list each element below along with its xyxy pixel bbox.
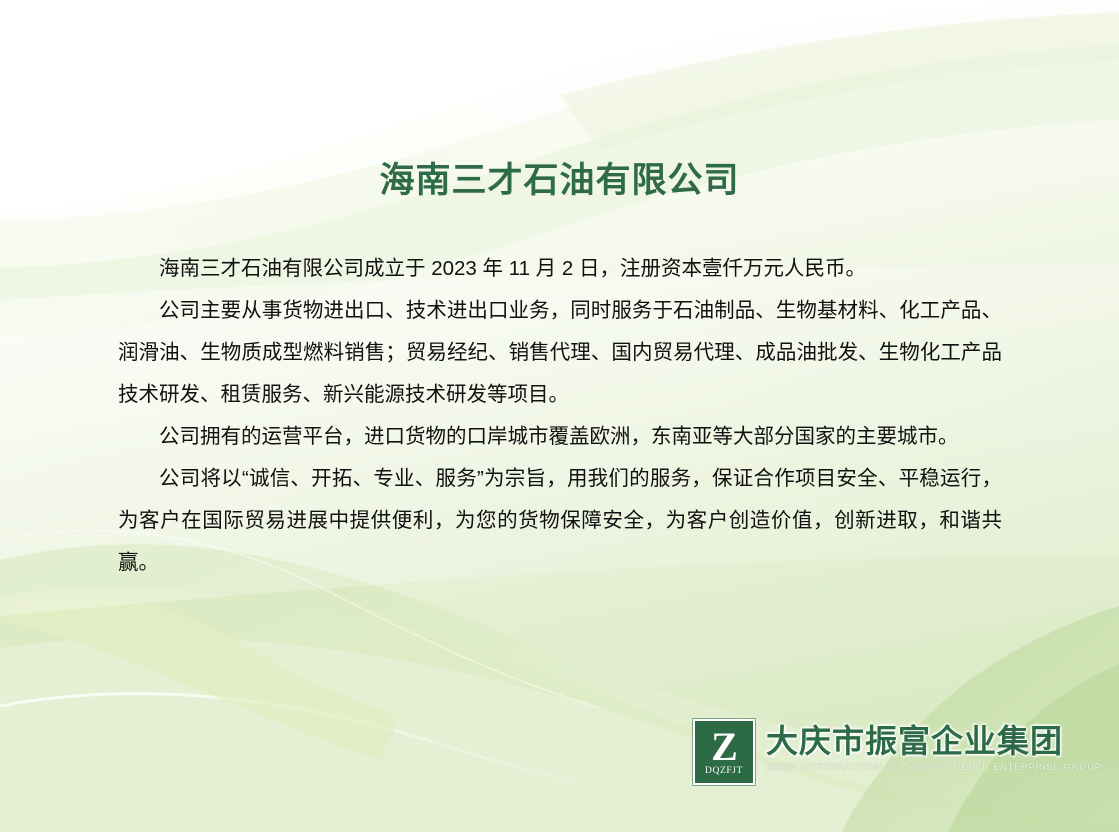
slide-canvas: 海南三才石油有限公司 海南三才石油有限公司成立于 2023 年 11 月 2 日… [0, 0, 1119, 832]
paragraph-3: 公司拥有的运营平台，进口货物的口岸城市覆盖欧洲，东南亚等大部分国家的主要城市。 [118, 416, 1002, 458]
logo-wordmark: 大庆市振富企业集团 BRIEF INTRODUCTION OF DAQING Z… [766, 719, 1102, 772]
logo-company-name-en: BRIEF INTRODUCTION OF DAQING ZHENFU ENTE… [766, 762, 1102, 772]
page-title: 海南三才石油有限公司 [0, 152, 1119, 203]
body-text: 海南三才石油有限公司成立于 2023 年 11 月 2 日，注册资本壹仟万元人民… [118, 248, 1002, 584]
paragraph-4: 公司将以“诚信、开拓、专业、服务”为宗旨，用我们的服务，保证合作项目安全、平稳运… [118, 458, 1002, 584]
logo-abbreviation: DQZFJT [705, 766, 743, 776]
logo-mark-icon: Z DQZFJT [693, 719, 755, 785]
company-logo: Z DQZFJT 大庆市振富企业集团 BRIEF INTRODUCTION OF… [693, 719, 1102, 785]
paragraph-1: 海南三才石油有限公司成立于 2023 年 11 月 2 日，注册资本壹仟万元人民… [118, 248, 1002, 290]
paragraph-2: 公司主要从事货物进出口、技术进出口业务，同时服务于石油制品、生物基材料、化工产品… [118, 290, 1002, 416]
logo-letter-z: Z [711, 729, 737, 766]
logo-company-name-cn: 大庆市振富企业集团 [766, 725, 1102, 759]
